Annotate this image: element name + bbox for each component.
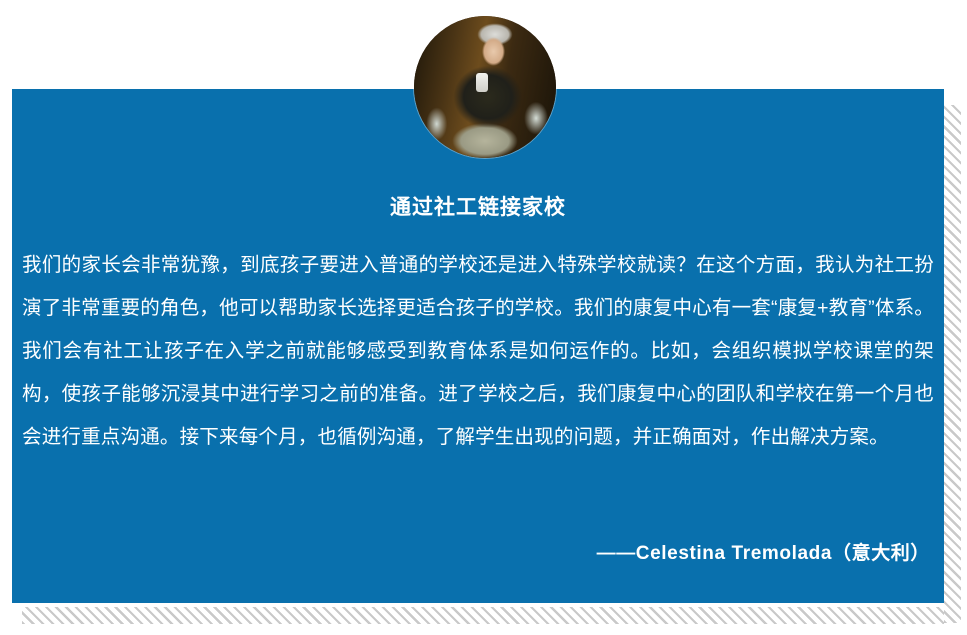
quote-card: 通过社工链接家校 我们的家长会非常犹豫，到底孩子要进入普通的学校还是进入特殊学校… [12, 89, 944, 603]
quote-attribution: ——Celestina Tremolada（意大利） [597, 538, 930, 565]
stripe-decoration-bottom [22, 607, 944, 624]
avatar [414, 16, 556, 158]
quote-body-text: 我们的家长会非常犹豫，到底孩子要进入普通的学校还是进入特殊学校就读？在这个方面，… [22, 244, 934, 459]
quote-body: 我们的家长会非常犹豫，到底孩子要进入普通的学校还是进入特殊学校就读？在这个方面，… [22, 244, 934, 459]
quote-title: 通过社工链接家校 [12, 191, 944, 221]
stripe-decoration-right [944, 105, 961, 623]
microphone-icon [476, 73, 488, 92]
